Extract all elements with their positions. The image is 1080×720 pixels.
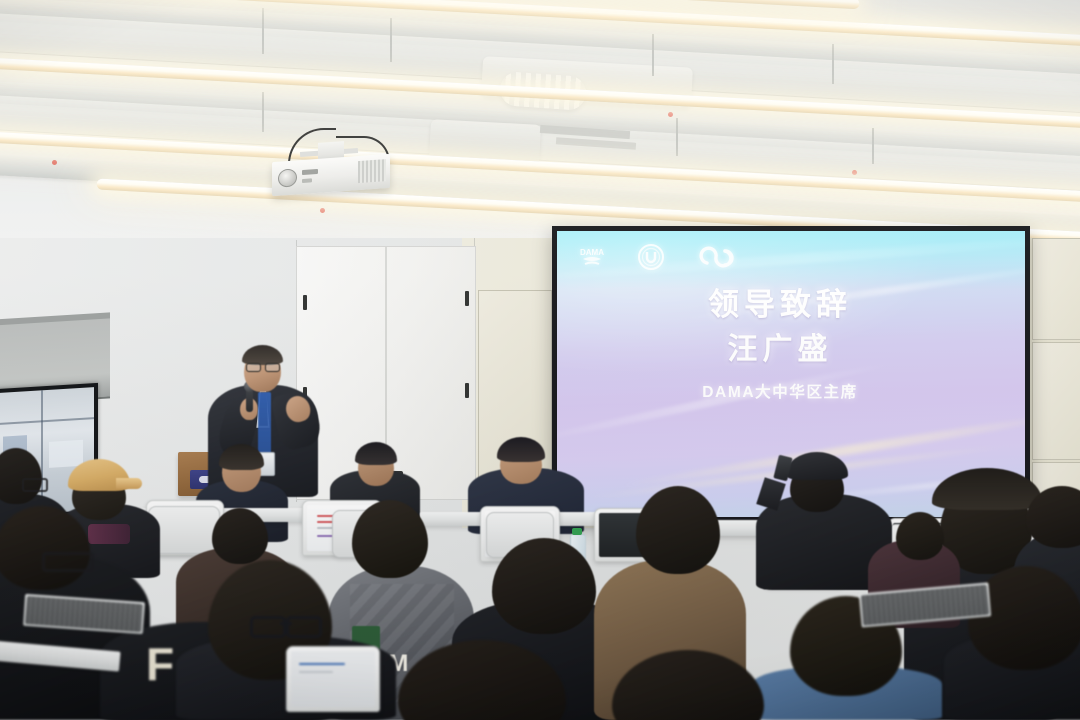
projector-vent xyxy=(358,159,386,183)
handheld-microphone xyxy=(246,388,253,412)
slide-title: 领导致辞 xyxy=(557,283,1003,327)
slide-logo-row: DAMA xyxy=(577,243,737,276)
speaker-glasses xyxy=(246,363,280,370)
conference-photo: DAMA xyxy=(0,0,1080,720)
red-marker-4 xyxy=(320,208,325,213)
slide-text-block: 领导致辞 汪广盛 DAMA大中华区主席 xyxy=(557,283,1025,402)
infinity-ribbon-logo-icon xyxy=(695,244,737,275)
door-hinge-4 xyxy=(465,383,469,398)
svg-text:DAMA: DAMA xyxy=(580,248,604,257)
red-marker-2 xyxy=(668,112,673,117)
ceiling xyxy=(0,0,1080,238)
circle-emblem-logo-icon xyxy=(637,243,665,276)
door-hinge-1 xyxy=(303,295,307,310)
red-marker-3 xyxy=(852,170,857,175)
dama-logo-icon: DAMA xyxy=(577,244,607,275)
bottle-cap-1 xyxy=(572,528,582,535)
door-hinge-3 xyxy=(465,291,469,306)
wall-panel-c xyxy=(1032,342,1080,460)
projector-lens xyxy=(278,168,297,187)
eyeglasses xyxy=(250,616,322,632)
wall-panel-b xyxy=(1032,238,1080,340)
slide-speaker-role: DAMA大中华区主席 xyxy=(557,380,1003,402)
slide-speaker-name: 汪广盛 xyxy=(557,327,1003,373)
red-marker-1 xyxy=(52,160,57,165)
